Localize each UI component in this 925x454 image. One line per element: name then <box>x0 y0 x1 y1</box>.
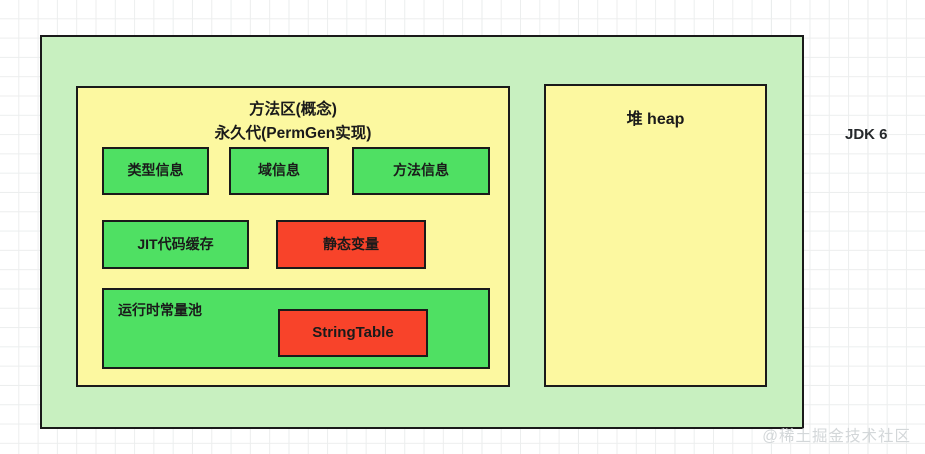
diagram-canvas: 方法区(概念) 永久代(PermGen实现) 类型信息 域信息 方法信息 JIT… <box>0 0 925 454</box>
heap-box: 堆 heap <box>544 84 767 387</box>
jit-code-cache-box: JIT代码缓存 <box>102 220 249 269</box>
type-info-label: 类型信息 <box>128 162 184 180</box>
string-table-label: StringTable <box>312 324 393 343</box>
method-info-label: 方法信息 <box>393 162 449 180</box>
method-area-title-line-2: 永久代(PermGen实现) <box>78 122 508 146</box>
type-info-box: 类型信息 <box>102 147 209 195</box>
method-area-title: 方法区(概念) 永久代(PermGen实现) <box>78 98 508 146</box>
method-area-box: 方法区(概念) 永久代(PermGen实现) 类型信息 域信息 方法信息 JIT… <box>76 86 510 387</box>
method-info-box: 方法信息 <box>352 147 490 195</box>
jit-code-cache-label: JIT代码缓存 <box>137 236 213 254</box>
heap-label: 堆 heap <box>546 110 765 130</box>
watermark-text: @稀土掘金技术社区 <box>762 424 911 446</box>
string-table-box: StringTable <box>278 309 428 357</box>
static-variables-box: 静态变量 <box>276 220 426 269</box>
runtime-data-area-box: 方法区(概念) 永久代(PermGen实现) 类型信息 域信息 方法信息 JIT… <box>40 35 804 429</box>
jdk-version-label: JDK 6 <box>845 126 888 143</box>
field-info-box: 域信息 <box>229 147 329 195</box>
method-area-title-line-1: 方法区(概念) <box>78 98 508 122</box>
runtime-constant-pool-box: 运行时常量池 StringTable <box>102 288 490 369</box>
static-variables-label: 静态变量 <box>323 236 379 254</box>
runtime-constant-pool-label: 运行时常量池 <box>118 302 202 320</box>
field-info-label: 域信息 <box>258 162 300 180</box>
